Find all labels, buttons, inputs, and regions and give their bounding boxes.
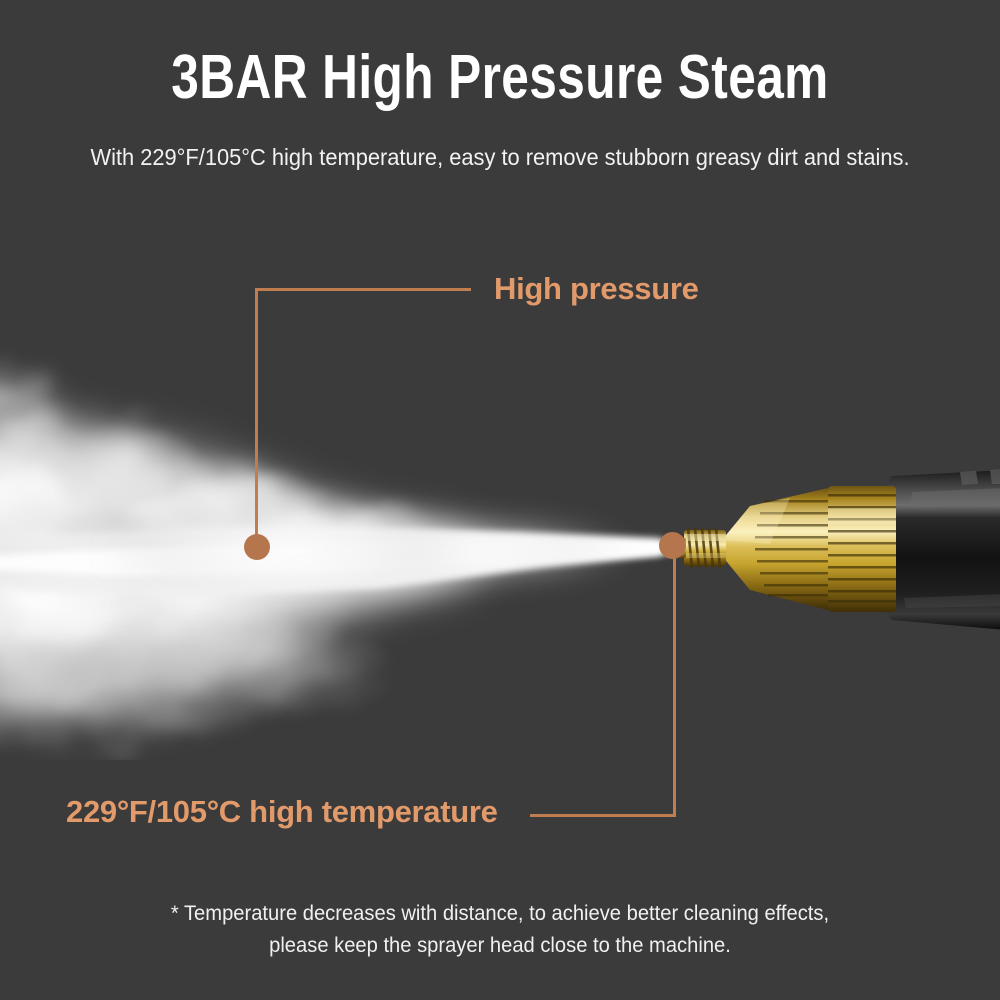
nozzle-collar	[828, 486, 896, 612]
leader-line-temperature-horizontal	[530, 814, 676, 817]
plume-marker-dot	[244, 534, 270, 560]
footnote: * Temperature decreases with distance, t…	[20, 898, 980, 962]
footnote-line-1: * Temperature decreases with distance, t…	[20, 898, 980, 930]
page-title: 3BAR High Pressure Steam	[100, 44, 900, 112]
nozzle-cone	[722, 488, 828, 610]
nozzle-marker-dot	[659, 532, 686, 559]
leader-line-temperature-vertical	[673, 546, 676, 816]
brass-sprayer-nozzle	[660, 448, 1000, 648]
leader-line-high-pressure-vertical	[255, 289, 258, 547]
footnote-line-2: please keep the sprayer head close to th…	[20, 930, 980, 962]
callout-label-high-pressure: High pressure	[494, 271, 699, 307]
product-feature-image: High pressure 229°F/105°C high temperatu…	[0, 0, 1000, 1000]
steam-plume	[0, 300, 720, 760]
callout-label-temperature: 229°F/105°C high temperature	[66, 794, 498, 830]
page-subtitle: With 229°F/105°C high temperature, easy …	[25, 142, 975, 172]
leader-line-high-pressure-horizontal	[255, 288, 471, 291]
